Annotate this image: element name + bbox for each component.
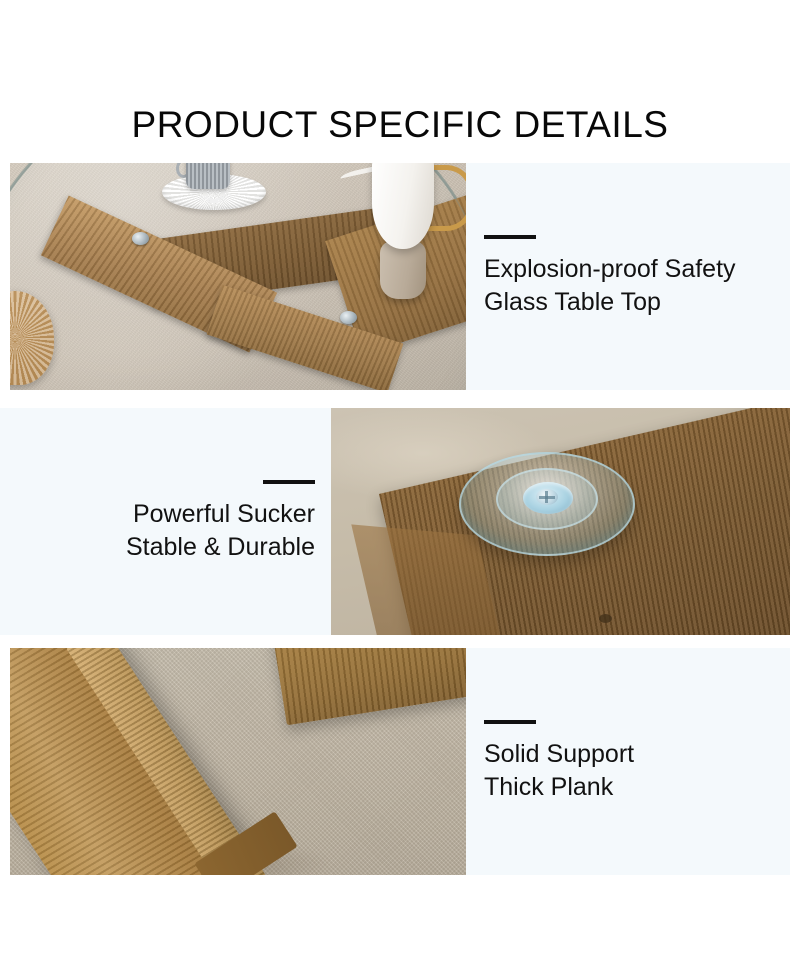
feature-row-solid-support: Solid Support Thick Plank (10, 648, 790, 875)
caption-line-2: Glass Table Top (484, 286, 790, 319)
wood-knot (599, 614, 612, 623)
feature-caption-solid-support: Solid Support Thick Plank (466, 648, 790, 875)
caption-line-1: Powerful Sucker (133, 498, 315, 531)
feature-caption-safety-glass-top: Explosion-proof Safety Glass Table Top (466, 163, 790, 390)
feature-caption-powerful-sucker: Powerful Sucker Stable & Durable (0, 408, 331, 635)
pitcher-base (380, 241, 426, 299)
feature-image-powerful-sucker (331, 408, 790, 635)
caption-line-2: Stable & Durable (126, 531, 315, 564)
feature-row-safety-glass-top: Explosion-proof Safety Glass Table Top (10, 163, 790, 390)
screw-icon (536, 489, 558, 505)
feature-image-solid-support (10, 648, 466, 875)
page-title: PRODUCT SPECIFIC DETAILS (0, 104, 800, 146)
product-detail-page: PRODUCT SPECIFIC DETAILS Explosi (0, 0, 800, 977)
caption-line-2: Thick Plank (484, 771, 790, 804)
caption-rule (484, 720, 536, 724)
striped-mug (186, 163, 230, 189)
caption-rule (263, 480, 315, 484)
feature-row-powerful-sucker: Powerful Sucker Stable & Durable (0, 408, 790, 635)
feature-image-safety-glass-top (10, 163, 466, 390)
caption-line-1: Explosion-proof Safety (484, 253, 790, 286)
caption-line-1: Solid Support (484, 738, 790, 771)
caption-rule (484, 235, 536, 239)
ceramic-pitcher (372, 163, 434, 249)
